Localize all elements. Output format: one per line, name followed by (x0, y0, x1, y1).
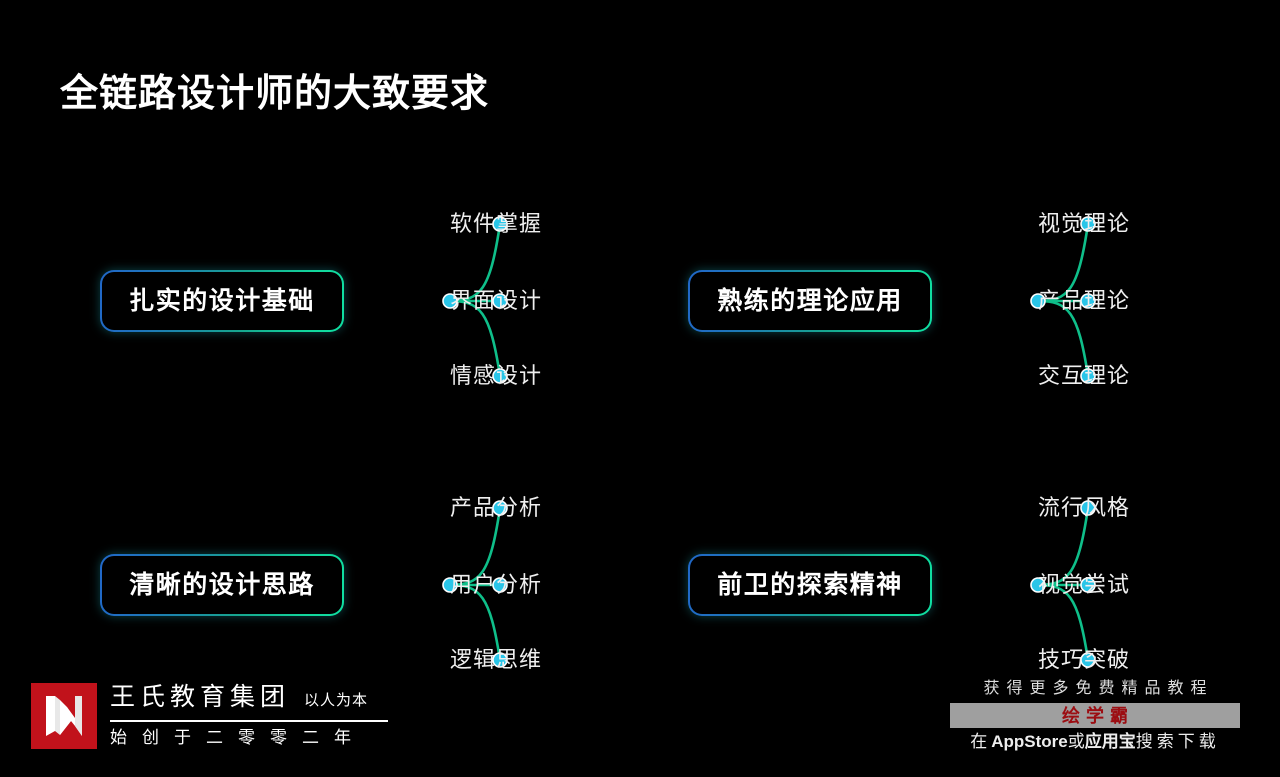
mindmap-node-label: 前卫的探索精神 (717, 573, 903, 598)
mindmap-node-box[interactable]: 熟练的理论应用 (688, 270, 932, 332)
promo-footer-prefix: 在 (970, 732, 991, 751)
promo-footer-store2: 应用宝 (1085, 732, 1136, 751)
mindmap-node-label: 扎实的设计基础 (129, 289, 315, 314)
mindmap-node-label: 清晰的设计思路 (129, 573, 315, 598)
logo-divider (110, 720, 388, 722)
branch-label: 流行风格 (1038, 497, 1130, 519)
promo-headline: 获得更多免费精品教程 (950, 681, 1240, 697)
logo-text-block: 王氏教育集团 以人为本 始创于二零零二年 (110, 683, 388, 746)
wangshi-w-logo-icon (31, 683, 97, 749)
mindmap-node-label: 熟练的理论应用 (717, 289, 903, 314)
mindmap-node-box[interactable]: 扎实的设计基础 (100, 270, 344, 332)
promo-brand-name: 绘学霸 (1056, 707, 1134, 725)
logo-slogan: 以人为本 (304, 693, 368, 708)
promo-watermark: 获得更多免费精品教程 绘学霸 在AppStore或应用宝搜索下载 (950, 681, 1240, 750)
branch-label: 技巧突破 (1038, 649, 1130, 671)
branch-label: 逻辑思维 (450, 649, 542, 671)
mindmap-group-3: 清晰的设计思路 产品分析 用户分析 逻辑思维 (92, 470, 652, 700)
promo-brand-bar: 绘学霸 (950, 703, 1240, 728)
promo-footer-store: AppStore (991, 732, 1068, 751)
branch-label: 交互理论 (1038, 365, 1130, 387)
logo-company-name: 王氏教育集团 (110, 685, 290, 710)
mindmap-node-box[interactable]: 清晰的设计思路 (100, 554, 344, 616)
mindmap-group-1: 扎实的设计基础 软件掌握 界面设计 情感设计 (92, 186, 652, 416)
branch-label: 情感设计 (450, 365, 542, 387)
branch-label: 视觉尝试 (1038, 574, 1130, 596)
promo-footer-middle: 或 (1068, 732, 1085, 751)
branch-label: 产品理论 (1038, 290, 1130, 312)
branch-label: 产品分析 (450, 497, 542, 519)
page-title: 全链路设计师的大致要求 (60, 62, 489, 117)
mindmap-group-2: 熟练的理论应用 视觉理论 产品理论 交互理论 (680, 186, 1240, 416)
branch-label: 用户分析 (450, 574, 542, 596)
brand-logo-lockup: 王氏教育集团 以人为本 始创于二零零二年 (31, 683, 388, 749)
branch-label: 界面设计 (450, 290, 542, 312)
mindmap-node-box[interactable]: 前卫的探索精神 (688, 554, 932, 616)
branch-label: 视觉理论 (1038, 213, 1130, 235)
promo-footer: 在AppStore或应用宝搜索下载 (950, 733, 1240, 750)
branch-label: 软件掌握 (450, 213, 542, 235)
logo-top-row: 王氏教育集团 以人为本 (110, 685, 388, 715)
promo-footer-suffix: 搜索下载 (1136, 732, 1220, 751)
mindmap-group-4: 前卫的探索精神 流行风格 视觉尝试 技巧突破 (680, 470, 1240, 700)
logo-founded-year: 始创于二零零二年 (110, 729, 388, 746)
